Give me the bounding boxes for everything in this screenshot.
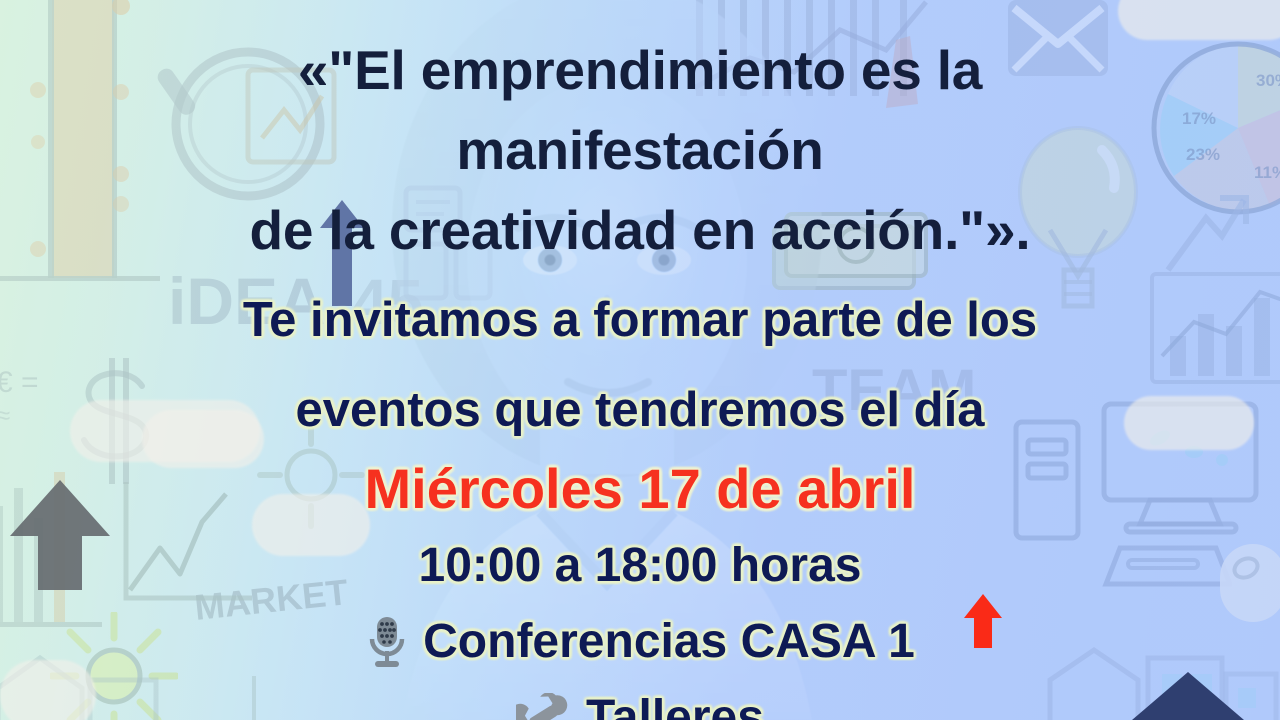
venue-conferences-label: Conferencias CASA 1	[423, 604, 915, 680]
event-hours: 10:00 a 18:00 horas	[0, 528, 1280, 604]
headline-line-1: «"El emprendimiento es la manifestación	[0, 30, 1280, 190]
wrench-icon	[516, 693, 572, 720]
venue-workshops-row: Talleres	[0, 680, 1280, 720]
poster-content: «"El emprendimiento es la manifestación …	[0, 0, 1280, 720]
headline-line-2: de la creatividad en acción."».	[0, 190, 1280, 270]
invite-line-1: Te invitamos a formar parte de los	[0, 280, 1280, 360]
venue-workshops-label: Talleres	[586, 680, 764, 720]
venue-conferences-row: Conferencias CASA 1	[0, 604, 1280, 680]
invite-line-2: eventos que tendremos el día	[0, 370, 1280, 450]
poster-canvas: iDEA 45 MARKET TEAM	[0, 0, 1280, 720]
event-date: Miércoles 17 de abril	[0, 450, 1280, 528]
microphone-icon	[365, 615, 409, 669]
